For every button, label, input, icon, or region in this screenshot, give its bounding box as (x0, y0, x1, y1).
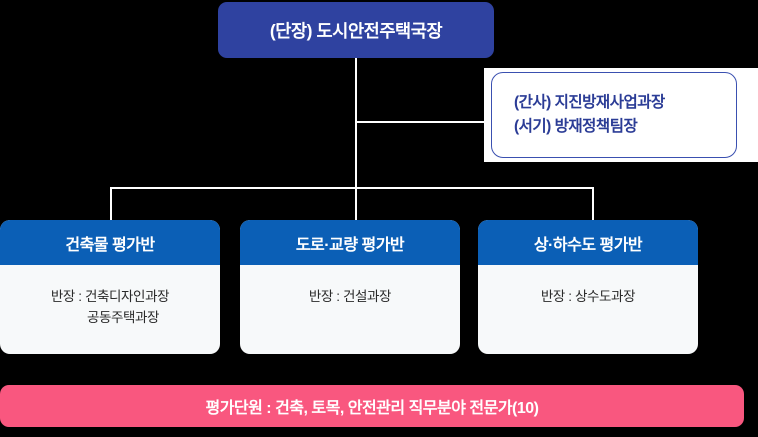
team-header-water-supply: 상·하수도 평가반 (478, 220, 698, 265)
team-box-building: 건축물 평가반 반장 : 건축디자인과장 공동주택과장 (0, 220, 220, 354)
secretary-label-line-1: (간사) 지진방재사업과장 (514, 91, 665, 115)
leader-label: (단장) 도시안전주택국장 (270, 18, 442, 43)
team-header-road-bridge: 도로·교량 평가반 (240, 220, 460, 265)
secretary-box: (간사) 지진방재사업과장 (서기) 방재정책팀장 (491, 72, 737, 158)
team-member-line: 공동주택과장 (61, 308, 159, 329)
team-header-building: 건축물 평가반 (0, 220, 220, 265)
connector-drop-team-0 (110, 187, 112, 221)
connector-leader-vertical-upper (355, 58, 357, 124)
team-member-line: 반장 : 상수도과장 (541, 287, 635, 308)
team-header-label: 건축물 평가반 (65, 231, 154, 255)
team-header-label: 도로·교량 평가반 (296, 231, 404, 255)
team-member-line: 반장 : 건설과장 (309, 287, 391, 308)
secretary-panel: (간사) 지진방재사업과장 (서기) 방재정책팀장 (484, 68, 758, 162)
org-chart-diagram: (단장) 도시안전주택국장 (간사) 지진방재사업과장 (서기) 방재정책팀장 … (0, 0, 758, 437)
team-box-road-bridge: 도로·교량 평가반 반장 : 건설과장 (240, 220, 460, 354)
team-box-water-supply: 상·하수도 평가반 반장 : 상수도과장 (478, 220, 698, 354)
members-bar: 평가단원 : 건축, 토목, 안전관리 직무분야 전문가(10) (0, 385, 744, 427)
connector-leader-vertical-lower (355, 121, 357, 189)
team-body-road-bridge: 반장 : 건설과장 (240, 265, 460, 354)
connector-secretary-horizontal (355, 121, 491, 123)
team-member-line: 반장 : 건축디자인과장 (51, 287, 169, 308)
team-body-building: 반장 : 건축디자인과장 공동주택과장 (0, 265, 220, 354)
secretary-label-line-2: (서기) 방재정책팀장 (514, 115, 637, 139)
team-header-label: 상·하수도 평가반 (534, 231, 642, 255)
leader-box: (단장) 도시안전주택국장 (218, 2, 494, 58)
team-body-water-supply: 반장 : 상수도과장 (478, 265, 698, 354)
members-label: 평가단원 : 건축, 토목, 안전관리 직무분야 전문가(10) (205, 394, 538, 418)
connector-drop-team-1 (355, 187, 357, 221)
connector-drop-team-2 (592, 187, 594, 221)
connector-distribution-bar (110, 187, 594, 189)
